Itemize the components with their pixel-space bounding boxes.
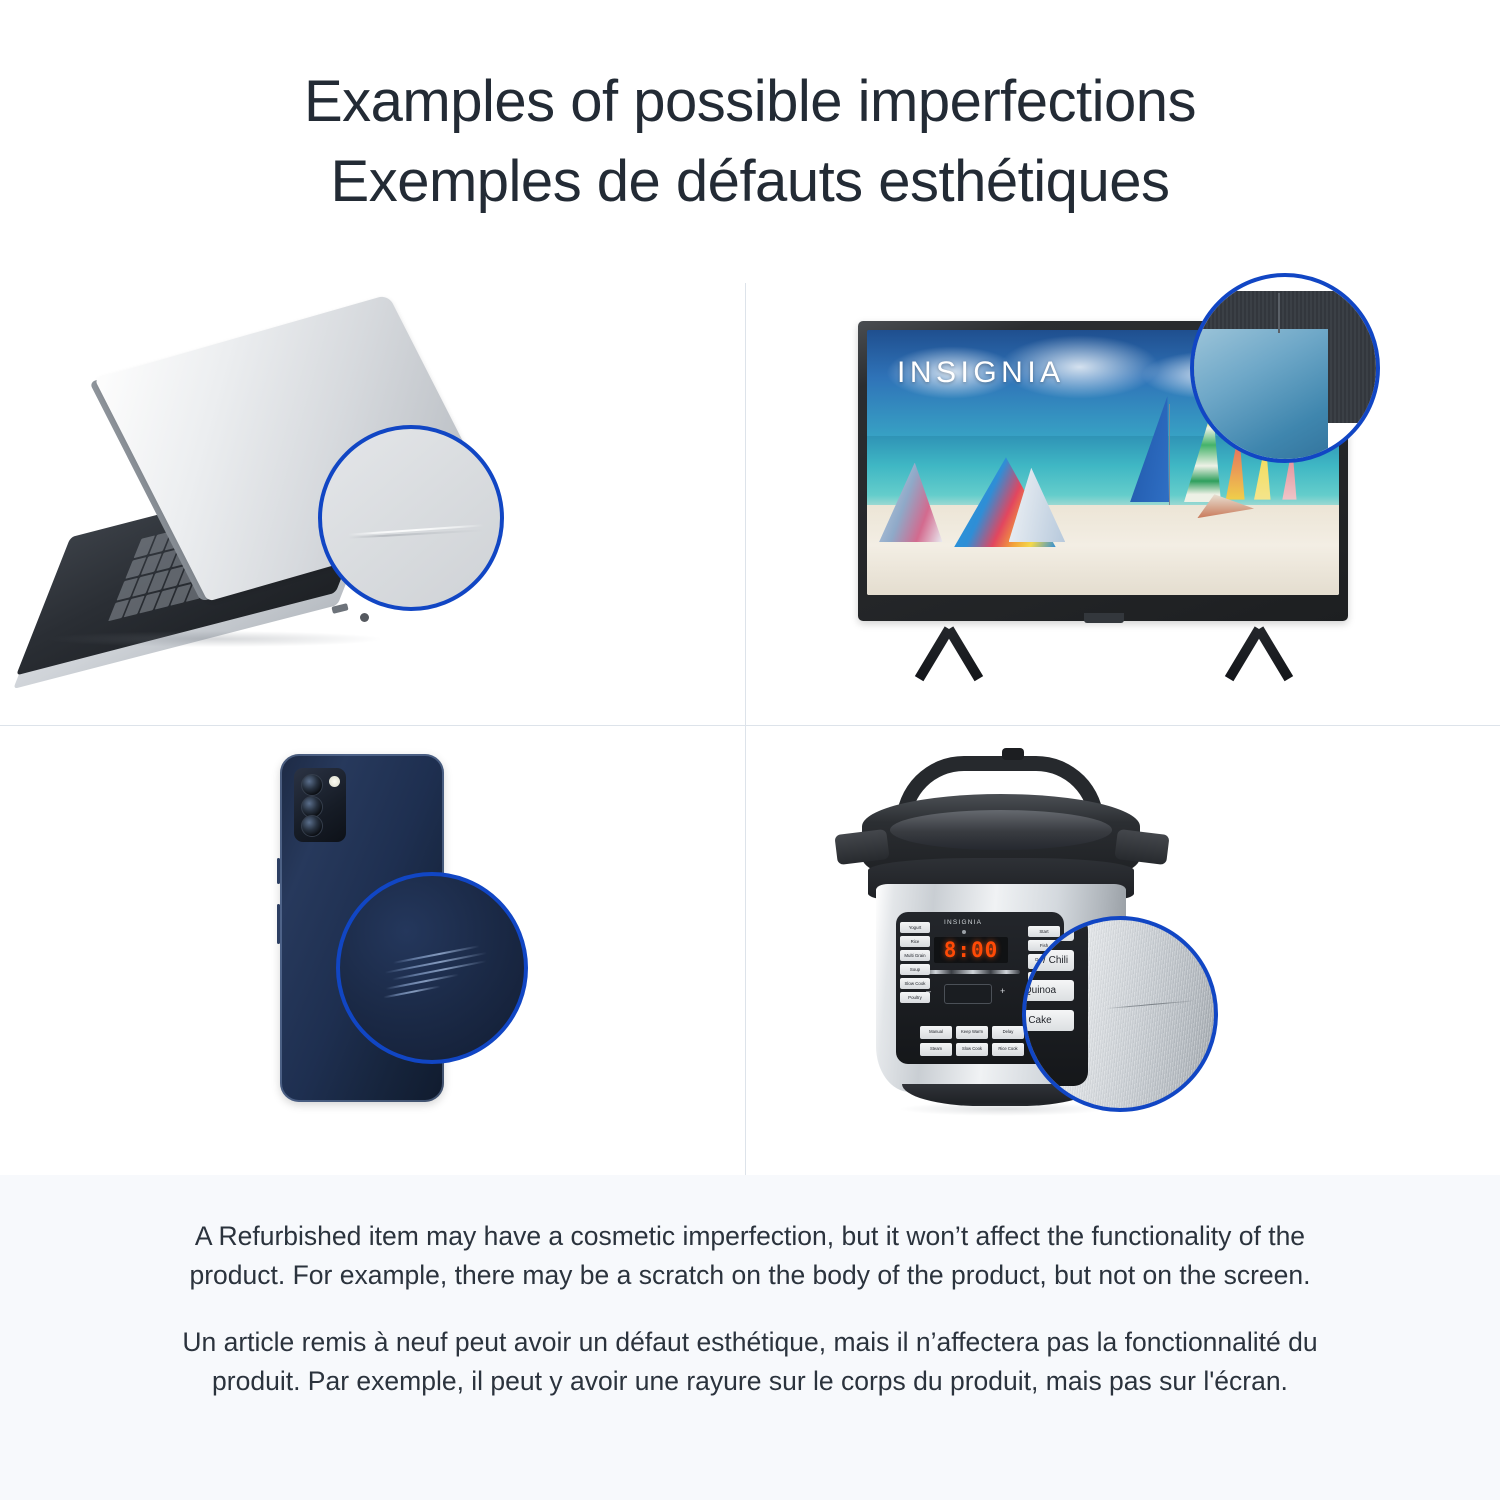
cooker-loupe-keys: Veggies Beans / Chili Quinoa Cake [1022,920,1074,1031]
footer-disclaimer: A Refurbished item may have a cosmetic i… [0,1175,1500,1500]
cooker-magnifier-loupe: Veggies Beans / Chili Quinoa Cake lay w … [1022,916,1218,1112]
cooker-key[interactable]: Steam [920,1043,952,1056]
cooker-mode-indicator-bar [922,970,1020,974]
cooker-side-handle-left [834,829,889,865]
phone-magnifier-loupe [336,872,528,1064]
cooker-key[interactable]: Rice [900,936,930,947]
cooker-key[interactable]: Rice Cook [992,1043,1024,1056]
tv-stand-left [910,631,988,687]
phone-power-button [277,904,280,944]
page-title: Examples of possible imperfections Exemp… [0,62,1500,222]
smartphone-illustration [258,744,488,1154]
cooker-key[interactable]: Yogurt [900,922,930,933]
cooker-key[interactable]: Slow Cook [956,1043,988,1056]
cooker-key[interactable]: Keep Warm [956,1026,988,1039]
cooker-loupe-key: Cake [1022,1010,1074,1031]
cooker-key[interactable]: Multi Grain [900,950,930,961]
tv-magnifier-loupe [1190,273,1380,463]
tv-stand-right [1220,631,1298,687]
title-line-english: Examples of possible imperfections [0,62,1500,142]
cooker-submode-box [944,984,992,1004]
cooker-scratch-mark [1106,1000,1198,1010]
examples-grid: INSIGNIA [0,283,1500,1175]
cooker-plus-button[interactable]: + [1000,986,1005,996]
imperfections-infographic: Examples of possible imperfections Exemp… [0,0,1500,1500]
cooker-key[interactable]: Soup [900,964,930,975]
quadrant-smartphone [0,726,745,1168]
tv-screen-brand: INSIGNIA [897,356,1065,390]
cooker-key[interactable]: Delay [992,1026,1024,1039]
pressure-cooker-illustration: INSIGNIA 8:00 – + Yogurt Rice Multi Grai… [838,740,1238,1140]
cooker-loupe-panel: Veggies Beans / Chili Quinoa Cake lay w … [1022,916,1088,1086]
phone-scratch-marks [376,940,495,1008]
laptop-audio-port [360,613,369,622]
cooker-left-key-column: Yogurt Rice Multi Grain Soup Slow Cook P… [900,922,930,1003]
disclaimer-french: Un article remis à neuf peut avoir un dé… [150,1323,1350,1400]
cooker-brand-label: INSIGNIA [944,919,982,926]
cooker-key[interactable]: Slow Cook [900,978,930,989]
quadrant-television: INSIGNIA [746,283,1491,725]
laptop-illustration [30,313,530,693]
cooker-loupe-key: Veggies [1022,920,1074,941]
tv-scene-sand [867,505,1339,595]
camera-lens-icon [301,815,323,837]
cooker-key[interactable]: Manual [920,1026,952,1039]
cooker-display-value: 8:00 [944,938,999,962]
cooker-indicator-led [962,930,966,934]
tv-loupe-scratch-mark [1278,293,1280,333]
cooker-loupe-key: Quinoa [1022,980,1074,1001]
television-illustration: INSIGNIA [858,321,1378,691]
tv-loupe-panel-area [1190,329,1328,463]
cooker-led-display: 8:00 [934,937,1008,963]
cooker-key[interactable]: Poultry [900,992,930,1003]
cooker-lid-top [890,810,1112,850]
cooker-steam-valve [1002,748,1024,760]
quadrant-laptop [0,283,745,725]
quadrant-pressure-cooker: INSIGNIA 8:00 – + Yogurt Rice Multi Grai… [746,726,1491,1168]
title-line-french: Exemples de défauts esthétiques [0,142,1500,222]
cooker-shadow [898,1102,1108,1116]
disclaimer-english: A Refurbished item may have a cosmetic i… [150,1217,1350,1294]
camera-flash-icon [329,776,340,787]
laptop-magnifier-loupe [318,425,504,611]
camera-lens-icon [301,774,323,796]
cooker-loupe-key: Beans / Chili [1022,950,1074,971]
laptop-shadow [50,631,380,647]
laptop-scratch-mark [348,525,484,537]
phone-camera-module [294,768,346,842]
phone-volume-button [277,858,280,884]
cooker-side-handle-right [1114,829,1169,865]
cooker-bottom-key-row: Manual Keep Warm Delay Steam Slow Cook R… [920,1026,1024,1056]
tv-loupe-sail-detail [1190,433,1226,463]
tv-scene-mast [1169,404,1170,505]
tv-ir-receiver [1084,613,1124,623]
